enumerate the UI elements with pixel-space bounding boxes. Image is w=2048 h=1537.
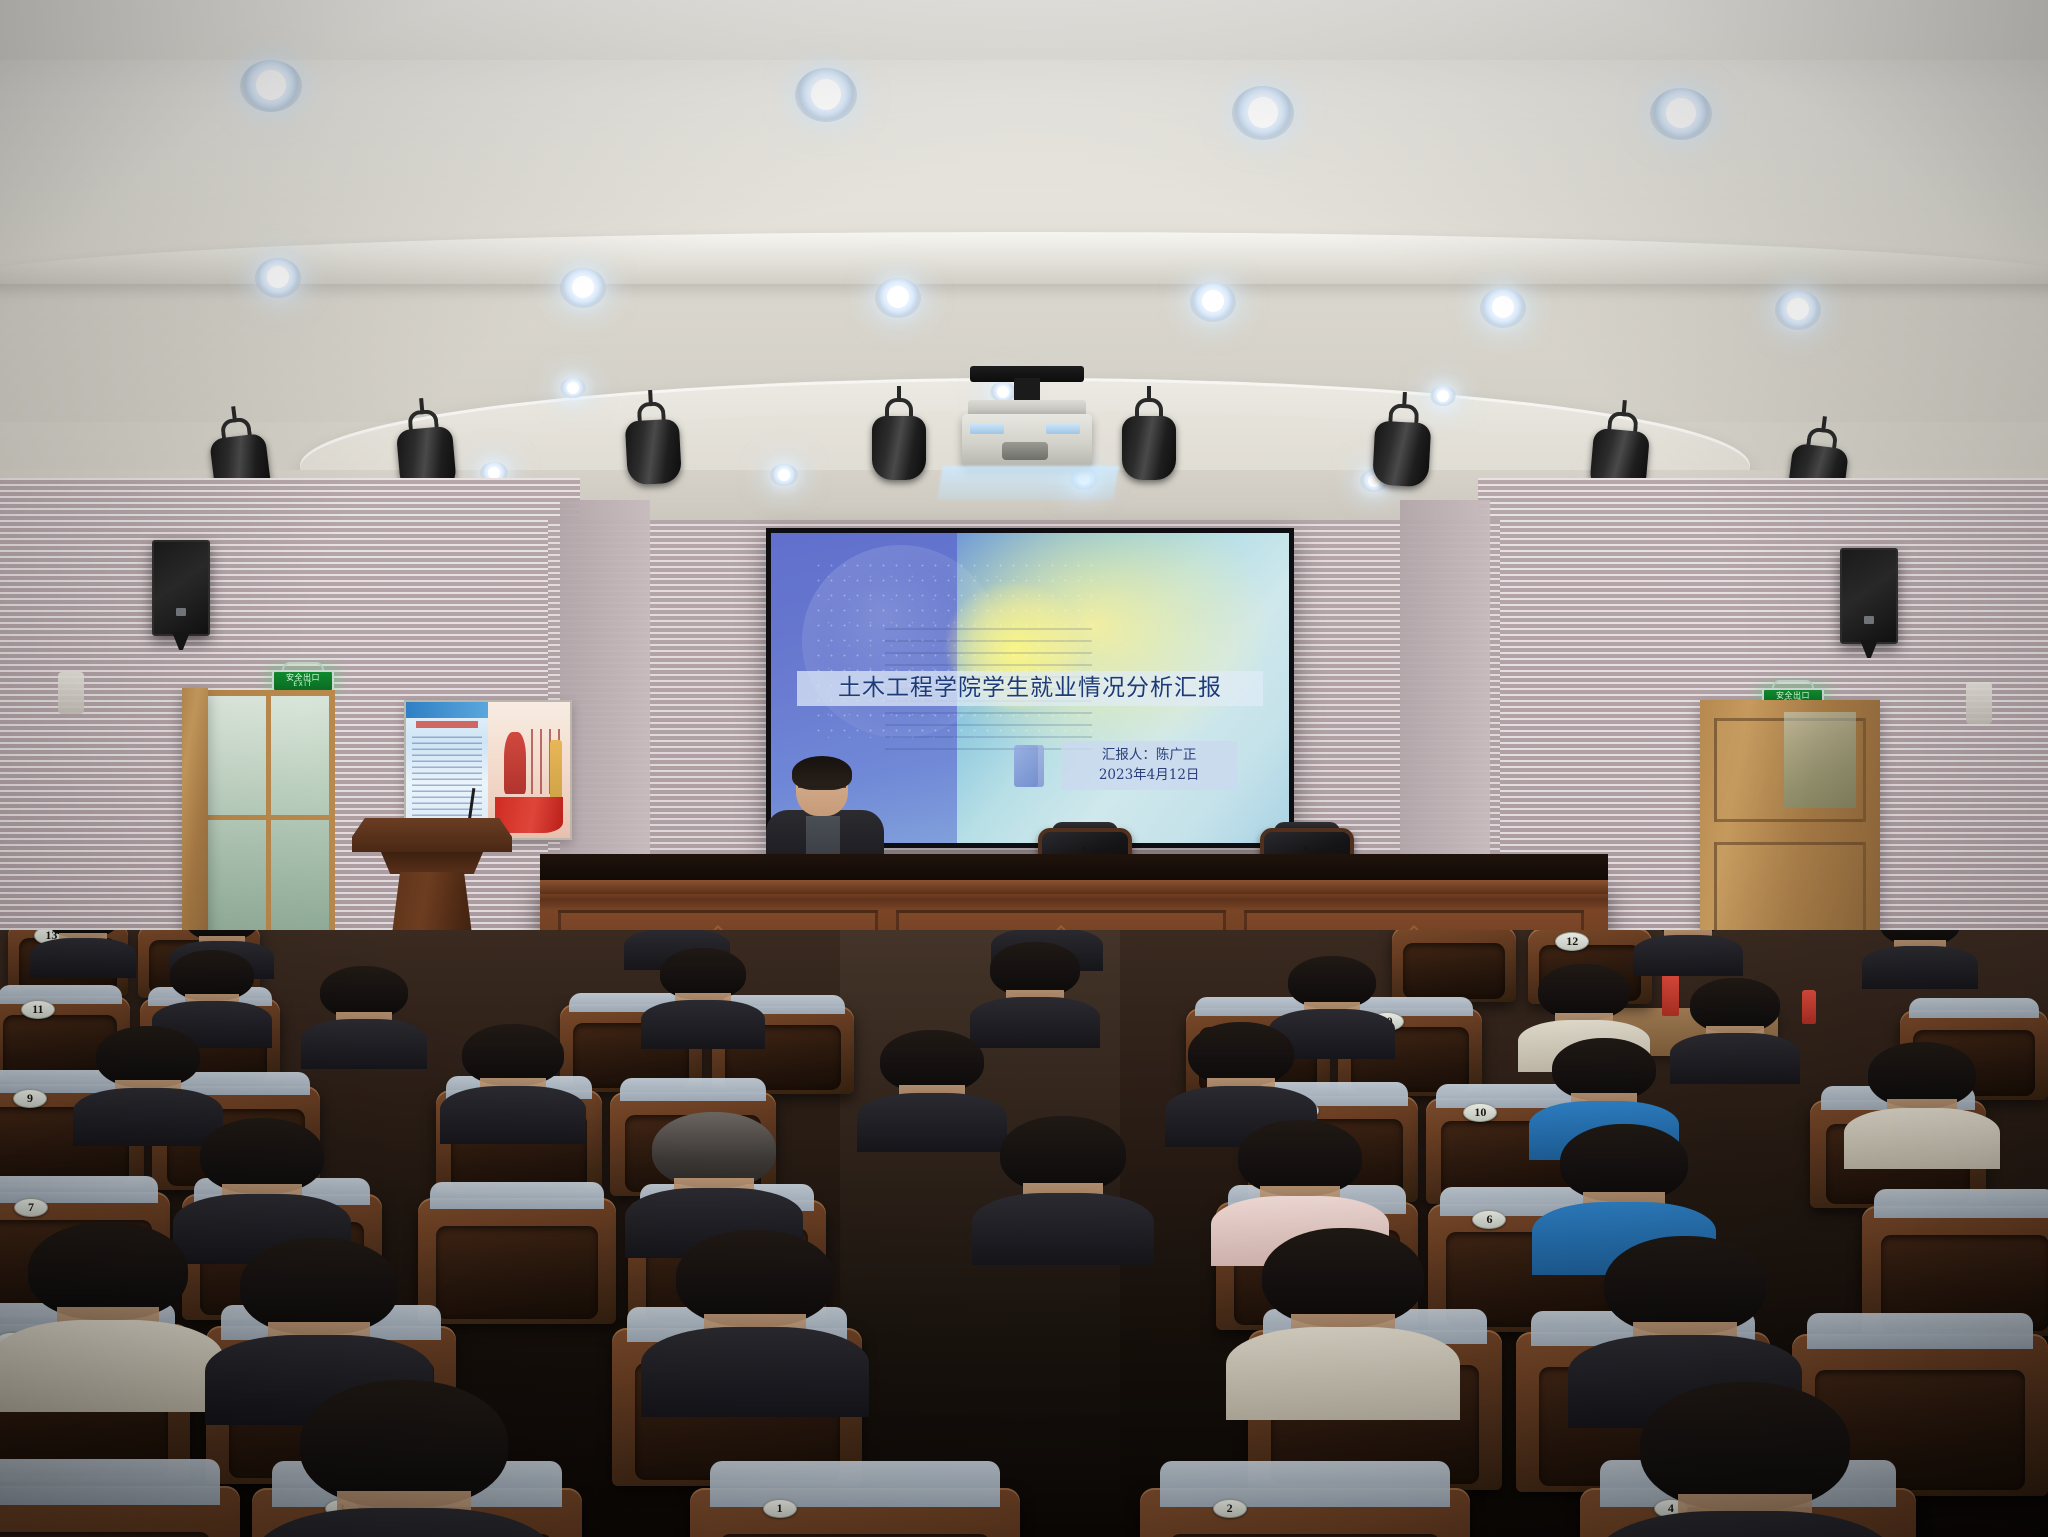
audience-person-r4-a <box>96 1026 200 1126</box>
audience-person-r4-f <box>1868 1042 1976 1148</box>
head-table-top <box>540 880 1608 894</box>
door-right-glass <box>1784 712 1856 808</box>
audience-person-r4-c <box>880 1030 984 1132</box>
lectern-neck <box>374 852 490 874</box>
seat-number: 2 <box>1213 1499 1247 1518</box>
downlight-arc-2 <box>770 464 798 486</box>
window-left <box>200 690 335 960</box>
thermos-red <box>1662 972 1679 1016</box>
seat-number: 1 <box>763 1499 797 1518</box>
seat-number: 9 <box>13 1089 47 1108</box>
exit-sign-left: 安全出口 EXIT <box>272 662 334 692</box>
downlight-arc-7 <box>990 382 1016 402</box>
track-light-5 <box>1122 398 1176 484</box>
audience-person-r4-b <box>462 1024 564 1124</box>
downlight-mid-6 <box>1775 290 1821 330</box>
seat-number: 6 <box>1472 1210 1506 1229</box>
audience-person-r5-e <box>1288 956 1376 1042</box>
seat-number: 7 <box>14 1198 48 1217</box>
audience-person-r3-b <box>652 1112 776 1234</box>
downlight-back-2 <box>795 68 857 122</box>
audience-person-r4-d <box>1188 1022 1294 1126</box>
audience-person-r3-d <box>1238 1120 1362 1242</box>
downlight-arc-6 <box>560 378 586 398</box>
audience-person-r1-b <box>1640 1382 1850 1537</box>
projector-body <box>962 414 1092 468</box>
audience-person-r6-e <box>1650 930 1726 962</box>
downlight-arc-8 <box>1430 386 1456 406</box>
downlight-mid-3 <box>875 278 921 318</box>
audience-person-r1-a <box>300 1380 508 1537</box>
head-table-rail <box>540 854 1608 880</box>
exit-label-en-left: EXIT <box>286 682 320 688</box>
seat-r3-c3[interactable] <box>418 1198 616 1324</box>
slide-logo-icon <box>1014 745 1044 787</box>
audience-person-r5-b <box>320 966 408 1052</box>
audience-person-r2-b <box>240 1238 398 1394</box>
downlight-back-3 <box>1232 86 1294 140</box>
projector-beam <box>937 466 1118 500</box>
ceiling-top-band <box>0 0 2048 60</box>
seat-number: 12 <box>1555 932 1589 951</box>
ceiling-soffit <box>0 232 2048 284</box>
audience-person-r3-a <box>200 1118 324 1240</box>
downlight-mid-4 <box>1190 282 1236 322</box>
seat-r1-c4[interactable]: 2 <box>1140 1488 1470 1537</box>
audience-person-r5-c <box>660 948 746 1032</box>
presenter-hair <box>792 756 852 790</box>
audience-seating: 13 12 11 <box>0 930 2048 1537</box>
wall-sconce-right <box>1966 682 1992 724</box>
wall-speaker-left <box>152 540 210 636</box>
lectern-top <box>352 818 512 852</box>
audience-person-r3-c <box>1000 1116 1126 1240</box>
downlight-back-1 <box>240 60 302 112</box>
seat-r6-c3[interactable] <box>1392 930 1516 1002</box>
downlight-mid-2 <box>560 268 606 308</box>
wall-speaker-right <box>1840 548 1898 644</box>
wall-sconce-left <box>58 672 84 714</box>
slide-meta-block: 汇报人：陈广正 2023年4月12日 <box>1061 741 1237 791</box>
downlight-mid-5 <box>1480 288 1526 328</box>
audience-person-r5-a <box>170 950 254 1032</box>
audience-person-r6-a <box>46 930 120 964</box>
audience-person-r2-a <box>28 1222 188 1380</box>
audience-person-r6-f <box>1880 930 1960 974</box>
downlight-mid-1 <box>255 258 301 298</box>
auditorium-photo: 安全出口 EXIT 安全出口 EXIT <box>0 0 2048 1537</box>
audience-person-r5-g <box>1690 978 1780 1066</box>
seat-r1-c3[interactable]: 1 <box>690 1488 1020 1537</box>
audience-person-r2-c <box>676 1230 834 1386</box>
glasses-icon <box>798 786 846 796</box>
audience-person-r2-e <box>1604 1236 1766 1396</box>
track-light-6 <box>1372 403 1433 494</box>
seat-r1-c1[interactable] <box>0 1486 240 1537</box>
track-light-3 <box>624 401 682 490</box>
downlight-back-4 <box>1650 88 1712 140</box>
slide-presenter-line: 汇报人：陈广正 <box>1063 745 1235 765</box>
audience-person-r2-d <box>1262 1228 1424 1388</box>
track-light-4 <box>872 398 926 484</box>
projector-lens <box>1002 442 1048 460</box>
ceiling-projector <box>962 400 1092 492</box>
audience-person-r3-e <box>1560 1124 1688 1250</box>
projector-arm <box>1014 378 1040 402</box>
seat-number: 10 <box>1463 1103 1497 1122</box>
thermos-red-2 <box>1802 990 1816 1024</box>
door-left[interactable] <box>182 688 208 970</box>
audience-person-r5-d <box>990 942 1080 1030</box>
slide-title: 土木工程学院学生就业情况分析汇报 <box>797 671 1263 706</box>
slide-date-line: 2023年4月12日 <box>1063 765 1235 785</box>
